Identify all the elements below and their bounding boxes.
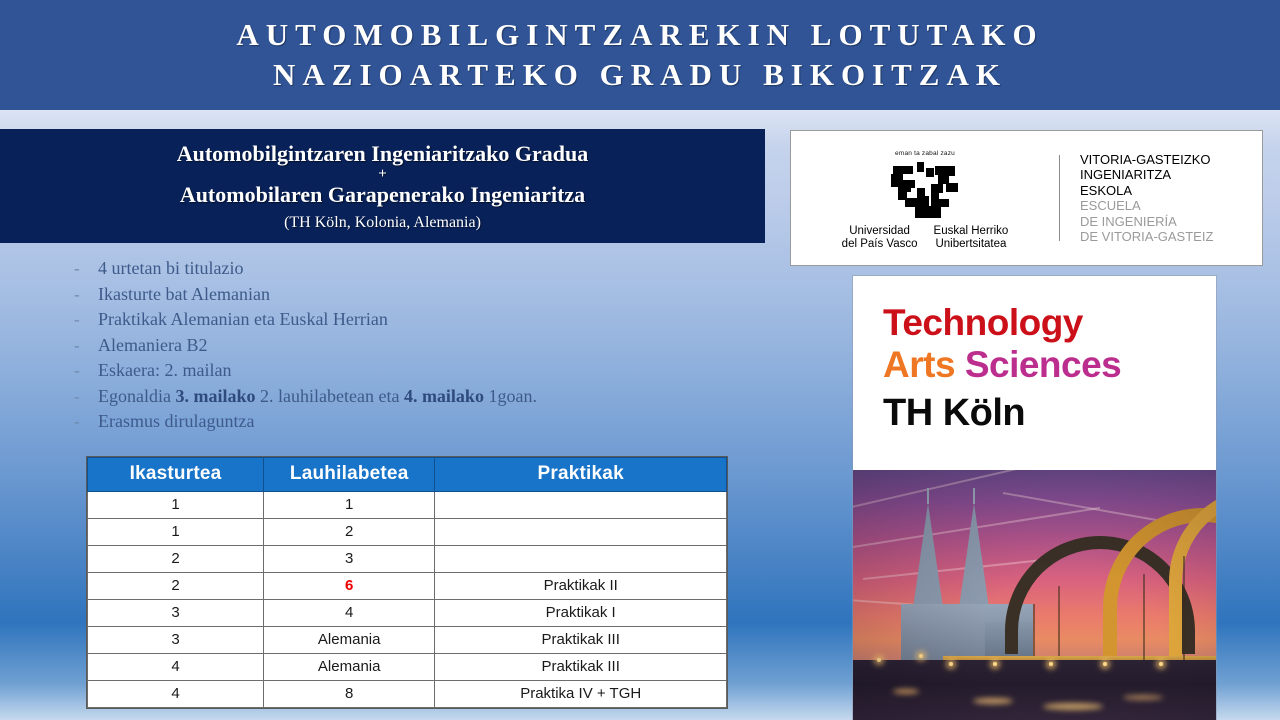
school-spanish-line3: DE VITORIA-GASTEIZ [1080, 229, 1213, 245]
list-item-label: Praktikak Alemanian eta Euskal Herrian [98, 307, 388, 332]
schedule-table: Ikasturtea Lauhilabetea Praktikak 111223… [87, 457, 727, 708]
cell-lauhilabetea: 4 [264, 600, 435, 627]
upv-ehu-emblem-group: eman ta zabal zazu Universidad del País … [791, 131, 1059, 265]
list-item: - 4 urtetan bi titulazio [74, 256, 734, 282]
degree-title-box: Automobilgintzaren Ingeniaritzako Gradua… [0, 129, 765, 243]
list-item: - Eskaera: 2. mailan [74, 358, 734, 384]
slide-title-line-1: AUTOMOBILGINTZAREKIN LOTUTAKO [236, 15, 1043, 55]
table-row: 23 [88, 546, 727, 573]
cell-lauhilabetea: Alemania [264, 627, 435, 654]
cell-praktikak: Praktika IV + TGH [435, 681, 727, 708]
degree-plus-separator: + [378, 167, 387, 182]
cell-lauhilabetea: Alemania [264, 654, 435, 681]
school-basque-line1: VITORIA-GASTEIZKO [1080, 152, 1213, 168]
bullet-dash-icon: - [74, 385, 98, 410]
bullet-dash-icon: - [74, 257, 98, 282]
list-item: - Alemaniera B2 [74, 333, 734, 359]
list-item: - Ikasturte bat Alemanian [74, 282, 734, 308]
list-item-label: Egonaldia 3. mailako 2. lauhilabetean et… [98, 384, 537, 409]
list-item-label: 4 urtetan bi titulazio [98, 256, 243, 281]
upv-name-basque-line2: Unibertsitatea [934, 238, 1009, 251]
features-bullet-list: - 4 urtetan bi titulazio - Ikasturte bat… [74, 256, 734, 435]
column-header-ikasturtea: Ikasturtea [88, 458, 264, 492]
list-item-label: Eskaera: 2. mailan [98, 358, 231, 383]
list-item-label: Ikasturte bat Alemanian [98, 282, 270, 307]
list-item: - Erasmus dirulaguntza [74, 409, 734, 435]
cell-ikasturtea: 3 [88, 600, 264, 627]
upv-name-spanish: Universidad del País Vasco [842, 225, 918, 251]
list-item: - Egonaldia 3. mailako 2. lauhilabetean … [74, 384, 734, 410]
table-row: 3AlemaniaPraktikak III [88, 627, 727, 654]
cell-ikasturtea: 1 [88, 492, 264, 519]
cell-ikasturtea: 4 [88, 681, 264, 708]
th-koln-arts-label: Arts [883, 344, 965, 385]
th-koln-panel: Technology Arts Sciences TH Köln [853, 276, 1216, 720]
bullet-dash-icon: - [74, 359, 98, 384]
upv-ehu-logo-panel: eman ta zabal zazu Universidad del País … [790, 130, 1263, 266]
cell-praktikak: Praktikak III [435, 627, 727, 654]
cell-ikasturtea: 4 [88, 654, 264, 681]
cell-ikasturtea: 3 [88, 627, 264, 654]
bullet-dash-icon: - [74, 308, 98, 333]
upv-name-basque: Euskal Herriko Unibertsitatea [934, 225, 1009, 251]
cell-ikasturtea: 2 [88, 546, 264, 573]
upv-university-names: Universidad del País Vasco Euskal Herrik… [842, 225, 1009, 251]
upv-name-spanish-line1: Universidad [842, 225, 918, 238]
upv-motto-label: eman ta zabal zazu [895, 150, 955, 157]
degree-subtitle-location: (TH Köln, Kolonia, Alemania) [284, 212, 481, 234]
cell-praktikak [435, 519, 727, 546]
school-spanish-line2: DE INGENIERÍA [1080, 214, 1213, 230]
upv-ehu-emblem-icon [879, 158, 971, 222]
cell-ikasturtea: 1 [88, 519, 264, 546]
th-koln-sciences-label: Sciences [965, 344, 1121, 385]
cell-praktikak: Praktikak II [435, 573, 727, 600]
table-row: 34Praktikak I [88, 600, 727, 627]
table-row: 4AlemaniaPraktikak III [88, 654, 727, 681]
school-basque-line2: INGENIARITZA [1080, 167, 1213, 183]
bullet-dash-icon: - [74, 334, 98, 359]
degree-title-line-1: Automobilgintzaren Ingeniaritzako Gradua [177, 141, 589, 167]
cell-lauhilabetea: 2 [264, 519, 435, 546]
cell-lauhilabetea: 1 [264, 492, 435, 519]
cell-ikasturtea: 2 [88, 573, 264, 600]
school-spanish-line1: ESCUELA [1080, 198, 1213, 214]
table-row: 12 [88, 519, 727, 546]
table-row: 26Praktikak II [88, 573, 727, 600]
degree-title-line-2: Automobilaren Garapenerako Ingeniaritza [180, 182, 585, 208]
slide-title-line-2: NAZIOARTEKO GRADU BIKOITZAK [273, 55, 1007, 95]
column-header-praktikak: Praktikak [435, 458, 727, 492]
photo-vignette [853, 470, 1216, 720]
table-row: 11 [88, 492, 727, 519]
school-basque-line3: ESKOLA [1080, 183, 1213, 199]
th-koln-logo: Technology Arts Sciences TH Köln [853, 276, 1216, 448]
cell-praktikak: Praktikak I [435, 600, 727, 627]
list-item: - Praktikak Alemanian eta Euskal Herrian [74, 307, 734, 333]
cologne-skyline-photo [853, 470, 1216, 720]
bullet-dash-icon: - [74, 283, 98, 308]
th-koln-name-label: TH Köln [883, 390, 1216, 436]
upv-name-basque-line1: Euskal Herriko [934, 225, 1009, 238]
th-koln-technology-label: Technology [883, 302, 1216, 344]
upv-name-spanish-line2: del País Vasco [842, 238, 918, 251]
column-header-lauhilabetea: Lauhilabetea [264, 458, 435, 492]
slide-title-banner: AUTOMOBILGINTZAREKIN LOTUTAKO NAZIOARTEK… [0, 0, 1280, 110]
table-header-row: Ikasturtea Lauhilabetea Praktikak [88, 458, 727, 492]
list-item-label: Alemaniera B2 [98, 333, 207, 358]
cell-praktikak [435, 546, 727, 573]
cell-lauhilabetea: 8 [264, 681, 435, 708]
cell-lauhilabetea: 6 [264, 573, 435, 600]
list-item-label: Erasmus dirulaguntza [98, 409, 254, 434]
table-row: 48Praktika IV + TGH [88, 681, 727, 708]
cell-lauhilabetea: 3 [264, 546, 435, 573]
bullet-dash-icon: - [74, 410, 98, 435]
th-koln-arts-sciences-line: Arts Sciences [883, 344, 1216, 386]
cell-praktikak: Praktikak III [435, 654, 727, 681]
cell-praktikak [435, 492, 727, 519]
engineering-school-names: VITORIA-GASTEIZKO INGENIARITZA ESKOLA ES… [1060, 152, 1213, 245]
